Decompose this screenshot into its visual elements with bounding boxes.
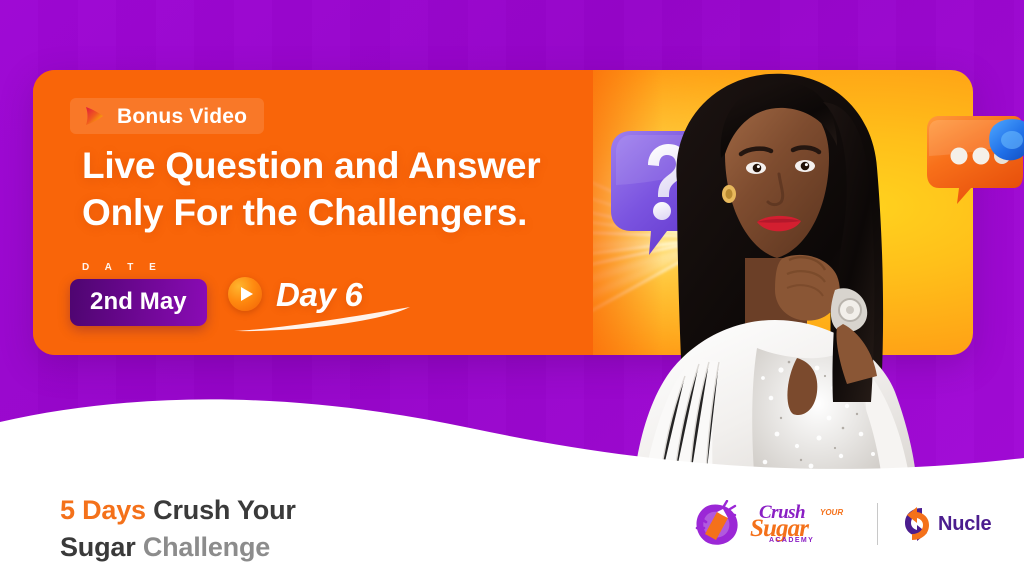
footer-logos: Crush YOUR Sugar ACADEMY Nucle: [690, 500, 991, 548]
logo-divider: [877, 503, 878, 545]
slide-canvas: Bonus Video Live Question and Answer Onl…: [0, 0, 1024, 576]
logo-word-academy: ACADEMY: [769, 537, 814, 544]
bonus-video-badge: Bonus Video: [70, 98, 264, 134]
footer-title-line2-dark: Sugar: [60, 532, 143, 562]
day-underline-swoosh: [232, 305, 412, 333]
date-badge: 2nd May: [70, 279, 207, 326]
logo-word-your: YOUR: [820, 508, 843, 517]
footer-title-line2-gray: Challenge: [143, 532, 270, 562]
headline-line-1: Live Question and Answer: [82, 145, 540, 186]
crush-sugar-academy-wordmark: Crush YOUR Sugar ACADEMY: [749, 503, 853, 545]
footer-title-highlight: 5 Days: [60, 495, 146, 525]
crush-sugar-academy-logo[interactable]: Crush YOUR Sugar ACADEMY: [690, 500, 853, 548]
date-value: 2nd May: [90, 288, 187, 315]
nucle-arrow-mark: [902, 506, 932, 542]
card-headline: Live Question and Answer Only For the Ch…: [82, 143, 642, 236]
date-caption: D A T E: [82, 262, 162, 273]
footer-title-line-2: Sugar Challenge: [60, 529, 296, 566]
nucle-logo[interactable]: Nucle: [902, 506, 991, 542]
crush-sugar-academy-mark: [690, 500, 742, 548]
nucle-wordmark: Nucle: [938, 513, 991, 536]
blue-3d-shape: [988, 118, 1024, 174]
footer-title-dark: Crush Your: [146, 495, 296, 525]
play-triangle-icon: [83, 105, 105, 127]
footer-title-line-1: 5 Days Crush Your: [60, 492, 296, 529]
bonus-video-label: Bonus Video: [117, 106, 247, 127]
headline-line-2: Only For the Challengers.: [82, 190, 642, 237]
footer-title: 5 Days Crush Your Sugar Challenge: [60, 492, 296, 565]
